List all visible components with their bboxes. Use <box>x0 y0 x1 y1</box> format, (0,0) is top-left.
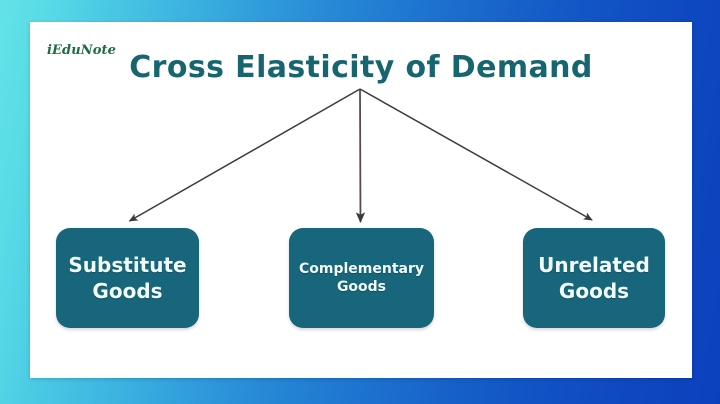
node-unrelated-goods-label: Unrelated Goods <box>538 252 650 305</box>
node-complementary-goods-label: Complementary Goods <box>299 260 424 297</box>
node-substitute-goods-label: Substitute Goods <box>68 252 186 305</box>
connector-to-unrelated <box>360 89 592 220</box>
connector-to-substitute <box>130 89 361 221</box>
node-unrelated-goods[interactable]: Unrelated Goods <box>523 228 665 328</box>
node-unrelated-goods-line1: Unrelated <box>538 253 650 277</box>
slide-canvas: iEduNote Cross Elasticity of Demand Subs… <box>0 0 720 404</box>
node-complementary-goods[interactable]: Complementary Goods <box>289 228 434 328</box>
node-unrelated-goods-line2: Goods <box>559 279 629 303</box>
node-complementary-goods-line1: Complementary <box>299 261 424 277</box>
diagram-title: Cross Elasticity of Demand <box>30 50 692 85</box>
node-substitute-goods-line2: Goods <box>92 279 162 303</box>
content-card: iEduNote Cross Elasticity of Demand Subs… <box>30 22 692 378</box>
node-complementary-goods-line2: Goods <box>337 279 386 295</box>
node-substitute-goods[interactable]: Substitute Goods <box>56 228 199 328</box>
node-substitute-goods-line1: Substitute <box>68 253 186 277</box>
connector-to-complementary <box>360 89 361 222</box>
